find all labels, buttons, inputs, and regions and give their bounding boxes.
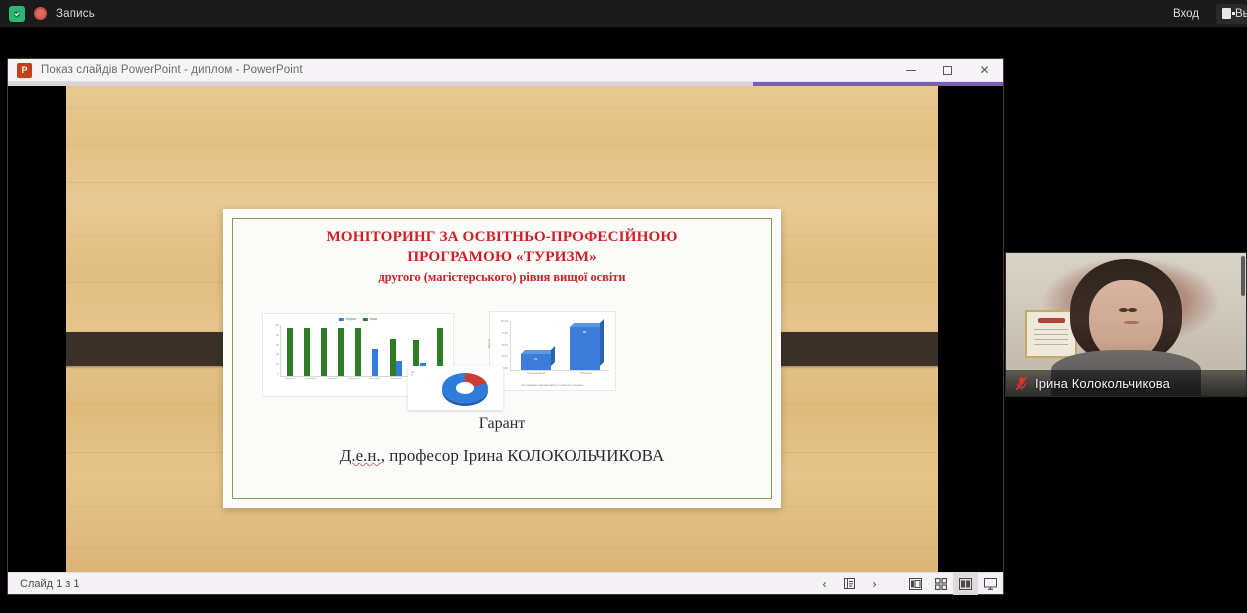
decorative-band-right [771,332,938,366]
previous-slide-button[interactable]: ‹ [812,573,837,595]
ytick-2: 60 [265,344,279,347]
bar-group [355,325,361,376]
ytick-1: 80 [265,334,279,337]
slide-stage[interactable]: МОНІТОРИНГ ЗА ОСВІТНЬО-ПРОФЕСІЙНОЮ ПРОГР… [8,86,1003,572]
bar-x-label: Критерій 3 [324,378,342,394]
donut-legend-1: Ні [411,375,415,378]
bar-group [372,325,378,376]
column-chart-x-axis: Попередній рік Поточний [510,372,609,375]
microphone-muted-icon [1015,376,1028,391]
c3d-ytick-1: 75,00 [494,332,508,335]
ytick-3: 40 [265,353,279,356]
role-label: Гарант [223,415,781,433]
c3d-xtick-1: Поточний [580,372,591,375]
recording-dot-icon[interactable] [34,7,47,20]
decorative-band-left [66,332,231,366]
slide-content-panel: МОНІТОРИНГ ЗА ОСВІТНЬО-ПРОФЕСІЙНОЮ ПРОГР… [223,209,781,508]
powerpoint-window: P Показ слайдів PowerPoint - диплом - Po… [8,59,1003,594]
video-scrollbar[interactable] [1241,256,1245,296]
view-slideshow-icon[interactable] [978,573,1003,595]
bar [396,361,402,376]
bar-group [287,325,293,376]
slide-content: МОНІТОРИНГ ЗА ОСВІТНЬО-ПРОФЕСІЙНОЮ ПРОГР… [223,209,781,508]
bar [355,328,361,376]
exit-button[interactable]: Вы [1216,4,1247,24]
bar-x-label: Критерій 1 [282,378,300,394]
statusbar-tools: ‹ › [812,573,1003,595]
column-bar: 88 [570,327,600,370]
bar-chart-y-axis: 100 80 60 40 20 0 [265,324,279,376]
notes-icon[interactable] [837,573,862,595]
recording-label: Запись [56,8,95,20]
conference-topbar-right: Вход Вы [1164,4,1247,24]
participant-name-bar: Ірина Колокольчикова [1006,370,1246,396]
slide-title-line1: МОНІТОРИНГ ЗА ОСВІТНЬО-ПРОФЕСІЙНОЮ [326,227,677,247]
c3d-ytick-3: 25,00 [494,355,508,358]
column-chart-caption: Рис. Динаміка показників набору за освіт… [490,385,615,387]
close-glyph: ✕ [979,63,989,77]
column-chart-y-title: Відсоток [488,339,491,348]
bar [287,328,293,376]
c3d-ytick-0: 100,00 [494,320,508,323]
donut-chart-legend: Так Ні [411,372,415,378]
ytick-0: 100 [265,324,279,327]
bar-x-label: Критерій 2 [303,378,321,394]
bar [304,328,310,376]
window-controls: ✕ [892,59,1003,81]
exit-door-icon [1222,8,1231,19]
bar [390,339,396,376]
next-slide-button[interactable]: › [862,573,887,595]
bar [372,349,378,376]
participant-name: Ірина Колокольчикова [1035,376,1170,391]
conference-topbar-left: Запись [0,6,95,22]
c3d-ytick-2: 50,00 [494,344,508,347]
slide-title-line2: ПРОГРАМОЮ «ТУРИЗМ» [326,247,677,267]
ytick-4: 20 [265,363,279,366]
close-icon[interactable]: ✕ [966,59,1003,81]
legend-label-0: Бали [370,317,378,321]
shield-check-icon[interactable] [9,6,25,22]
bar [338,328,344,376]
next-arrow-icon: › [873,577,877,591]
column-chart-3d-image: Відсоток 100,00 75,00 50,00 25,00 0,00 3… [490,312,615,390]
ytick-5: 0 [265,373,279,376]
c3d-xtick-0: Попередній рік [527,372,545,375]
column-chart-plot: 3388 [510,321,609,371]
column-value-label: 33 [521,357,551,361]
author-name: , професор Ірина КОЛОКОЛЬЧИКОВА [381,446,664,465]
powerpoint-titlebar[interactable]: P Показ слайдів PowerPoint - диплом - Po… [8,59,1003,82]
donut-chart-image: Так Ні [408,366,503,410]
legend-label-1: Норма [346,317,356,321]
powerpoint-statusbar: Слайд 1 з 1 ‹ › [8,572,1003,594]
prev-arrow-icon: ‹ [823,577,827,591]
minimize-icon[interactable] [892,59,929,81]
view-reading-icon[interactable] [953,573,978,595]
login-button[interactable]: Вход [1164,4,1208,24]
charts-row: Норма Бали 100 80 [223,314,781,410]
bar-group [338,325,344,376]
participant-video-tile[interactable]: Ірина Колокольчикова [1005,252,1247,397]
author-degree: Д.е.н. [340,446,381,465]
screen-root: Запись Вход Вы P Показ слайдів PowerPoin… [0,0,1247,613]
author-line: Д.е.н., професор Ірина КОЛОКОЛЬЧИКОВА [223,446,781,466]
window-title: Показ слайдів PowerPoint - диплом - Powe… [41,64,303,76]
exit-button-label: Вы [1235,8,1247,20]
column-value-label: 88 [570,330,600,334]
bar-x-label: Критерій 5 [366,378,384,394]
bar-group [321,325,327,376]
bar-chart-legend: Норма Бали [339,317,377,321]
view-normal-icon[interactable] [903,573,928,595]
bar-x-label: Критерій 6 [387,378,405,394]
powerpoint-icon: P [17,63,32,78]
conference-topbar: Запись Вход Вы [0,0,1247,27]
slide-canvas: МОНІТОРИНГ ЗА ОСВІТНЬО-ПРОФЕСІЙНОЮ ПРОГР… [66,86,938,572]
maximize-icon[interactable] [929,59,966,81]
bar-x-label: Критерій 4 [345,378,363,394]
column-bar: 33 [521,354,551,370]
column-chart-y-axis: 100,00 75,00 50,00 25,00 0,00 [494,320,508,370]
page-title: МОНІТОРИНГ ЗА ОСВІТНЬО-ПРОФЕСІЙНОЮ ПРОГР… [326,227,677,267]
bar [321,328,327,376]
bar-group [304,325,310,376]
slide-counter: Слайд 1 з 1 [8,578,80,590]
slide-subtitle: другого (магістерського) рівня вищої осв… [378,269,625,285]
donut-graphic [436,369,494,407]
bar-group [390,325,403,376]
view-slide-sorter-icon[interactable] [928,573,953,595]
